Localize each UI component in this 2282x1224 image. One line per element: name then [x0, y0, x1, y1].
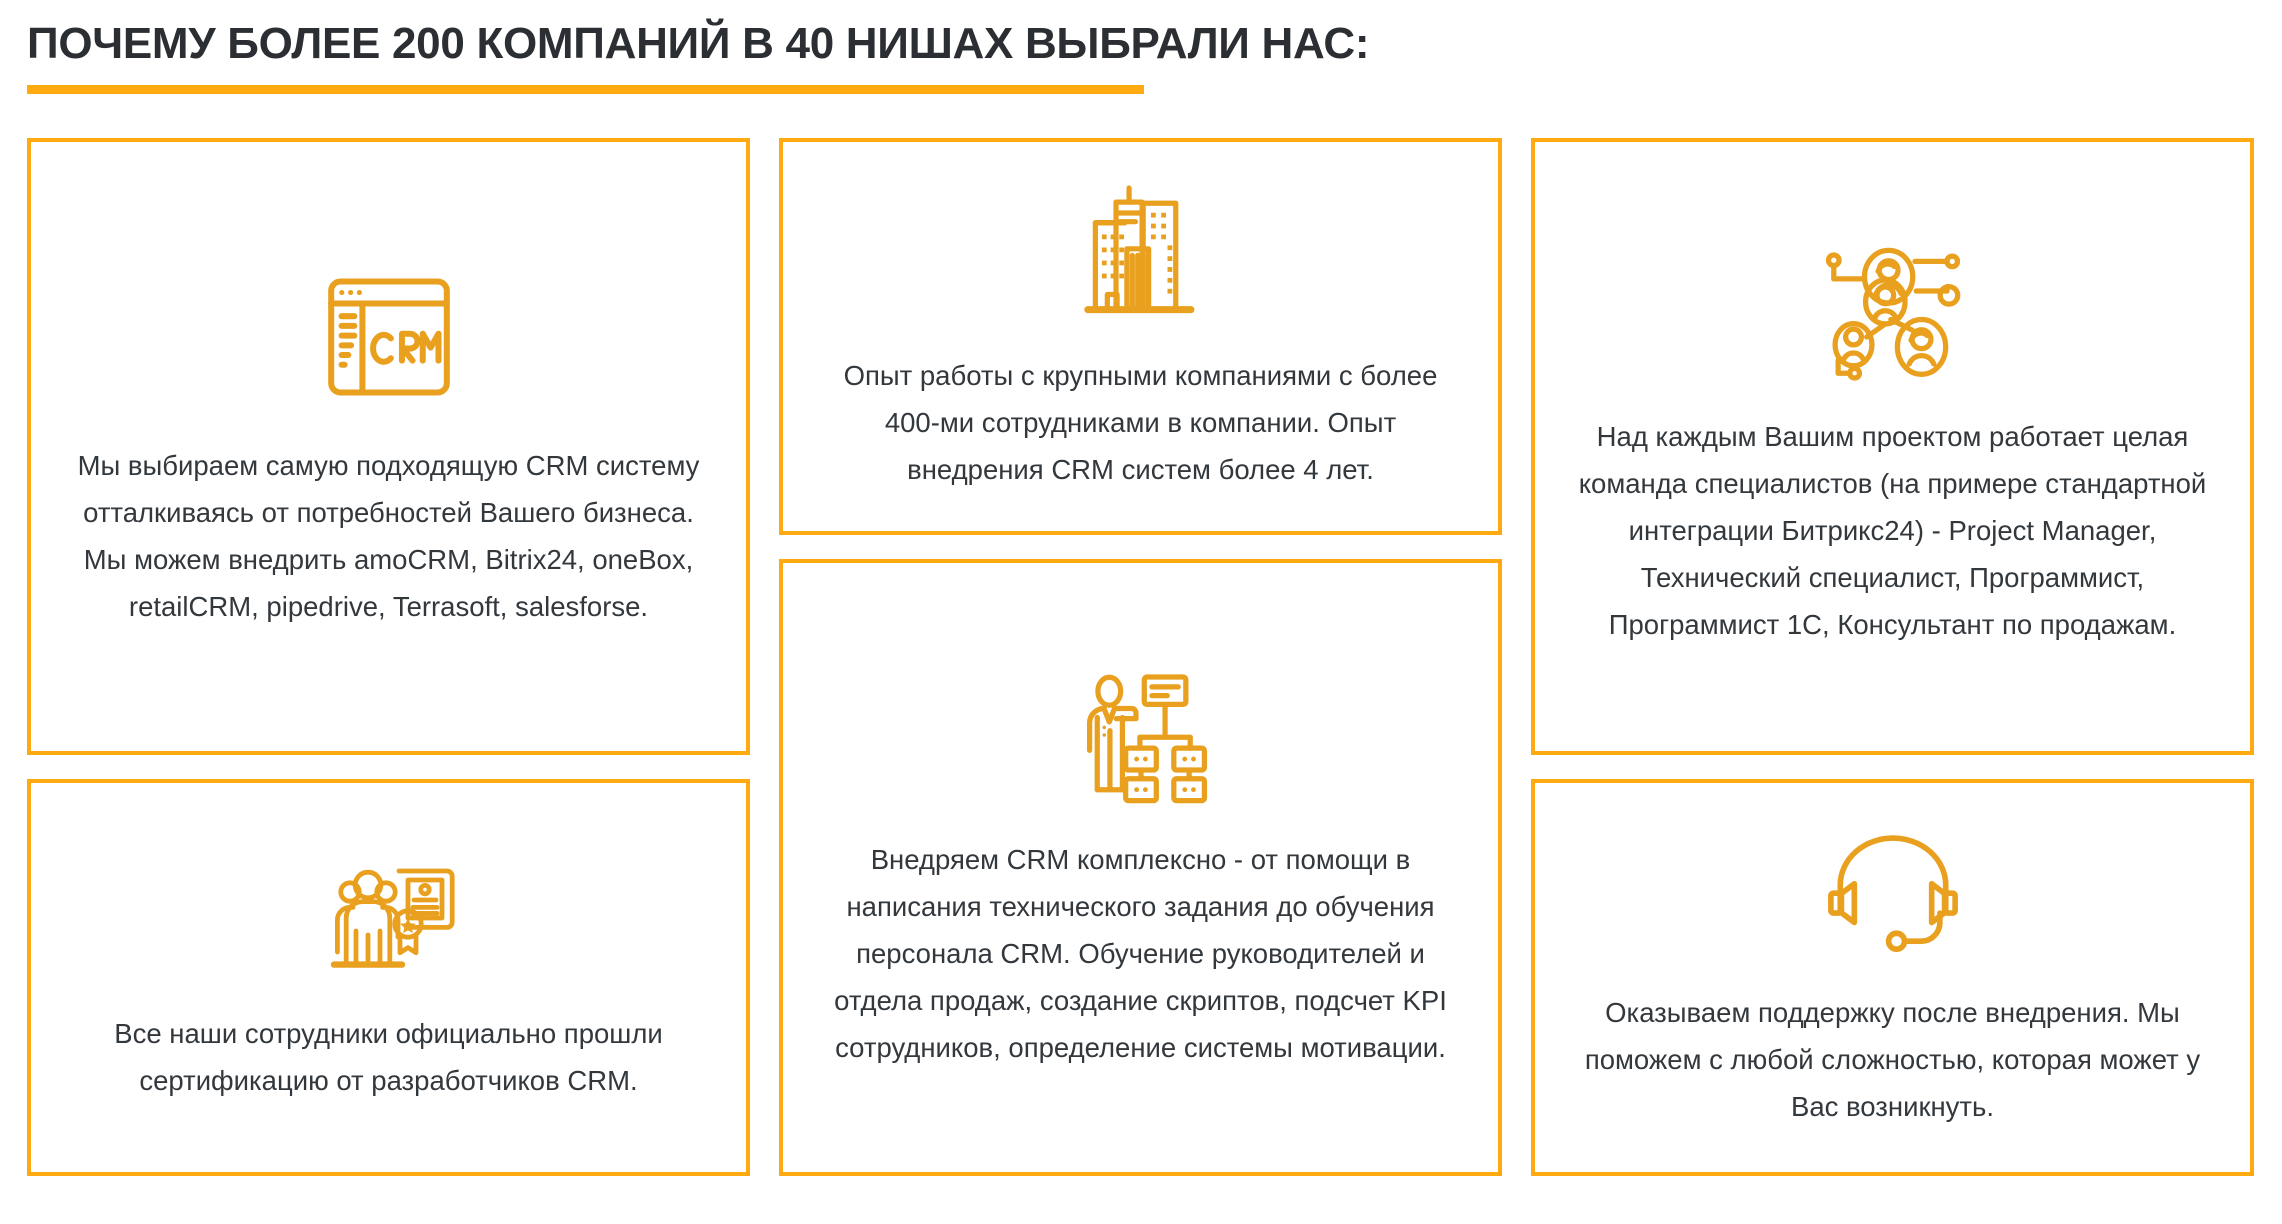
- crm-window-icon: [315, 263, 463, 416]
- feature-card-text: Внедряем CRM комплексно - от помощи в на…: [817, 836, 1465, 1071]
- certificate-people-icon: [319, 851, 459, 984]
- team-network-icon: [1818, 246, 1968, 387]
- feature-card-text: Над каждым Вашим проектом работает целая…: [1568, 413, 2218, 648]
- heading-underline-rule: [27, 85, 1144, 94]
- office-buildings-icon: [1078, 181, 1204, 326]
- feature-card-full-implementation[interactable]: Внедряем CRM комплексно - от помощи в на…: [779, 559, 1502, 1176]
- feature-card-text: Оказываем поддержку после внедрения. Мы …: [1573, 989, 2213, 1130]
- feature-cards-grid: Мы выбираем самую подходящую CRM систему…: [27, 138, 2255, 1176]
- presenter-orgchart-icon: [1071, 665, 1211, 810]
- feature-card-text: Все наши сотрудники официально прошли се…: [69, 1010, 709, 1104]
- feature-card-text: Мы выбираем самую подходящую CRM систему…: [69, 442, 709, 630]
- feature-card-enterprise-experience[interactable]: Опыт работы с крупными компаниями с боле…: [779, 138, 1502, 535]
- grid-column-right: Над каждым Вашим проектом работает целая…: [1531, 138, 2254, 1176]
- feature-card-text: Опыт работы с крупными компаниями с боле…: [817, 352, 1465, 493]
- feature-card-post-launch-support[interactable]: Оказываем поддержку после внедрения. Мы …: [1531, 779, 2254, 1176]
- feature-card-certified-staff[interactable]: Все наши сотрудники официально прошли се…: [27, 779, 750, 1176]
- grid-column-left: Мы выбираем самую подходящую CRM систему…: [27, 138, 750, 1176]
- feature-card-dedicated-team[interactable]: Над каждым Вашим проектом работает целая…: [1531, 138, 2254, 755]
- page-title: ПОЧЕМУ БОЛЕЕ 200 КОМПАНИЙ В 40 НИШАХ ВЫБ…: [27, 16, 2257, 72]
- feature-grid-page: ПОЧЕМУ БОЛЕЕ 200 КОМПАНИЙ В 40 НИШАХ ВЫБ…: [0, 0, 2282, 1224]
- grid-column-middle: Опыт работы с крупными компаниями с боле…: [779, 138, 1502, 1176]
- section-heading: ПОЧЕМУ БОЛЕЕ 200 КОМПАНИЙ В 40 НИШАХ ВЫБ…: [27, 16, 2257, 94]
- headset-support-icon: [1818, 826, 1968, 963]
- feature-card-crm-choice[interactable]: Мы выбираем самую подходящую CRM систему…: [27, 138, 750, 755]
